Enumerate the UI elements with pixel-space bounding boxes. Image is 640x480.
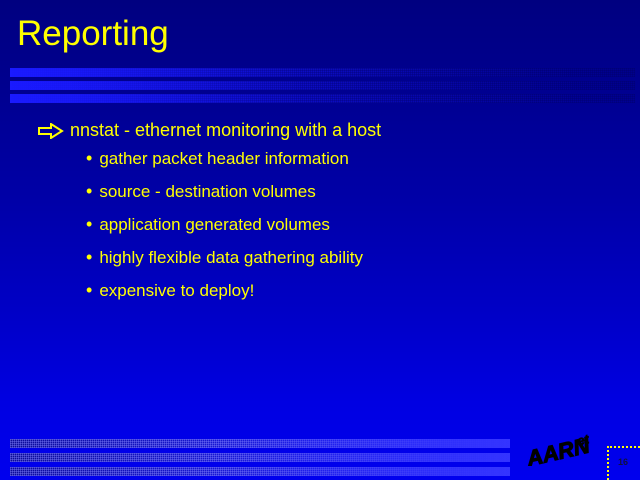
top-decorative-bars bbox=[0, 66, 640, 104]
bullet-dot-icon: • bbox=[86, 245, 92, 269]
decorative-bar bbox=[10, 94, 635, 103]
bullet-dot-icon: • bbox=[86, 179, 92, 203]
decorative-bar bbox=[10, 81, 635, 90]
sub-bullet-label: gather packet header information bbox=[99, 147, 349, 171]
bullet-dot-icon: • bbox=[86, 212, 92, 236]
decorative-bar bbox=[10, 453, 510, 462]
sub-bullet-item: • expensive to deploy! bbox=[0, 278, 640, 311]
sub-bullet-item: • application generated volumes bbox=[0, 212, 640, 245]
presentation-slide: Reporting nnstat - ethernet monitoring w… bbox=[0, 0, 640, 480]
page-title: Reporting bbox=[17, 14, 169, 54]
slide-body: nnstat - ethernet monitoring with a host… bbox=[0, 118, 640, 311]
decorative-bar bbox=[10, 439, 510, 448]
decorative-bar bbox=[10, 68, 635, 77]
sub-bullet-label: source - destination volumes bbox=[99, 180, 315, 204]
main-bullet-label: nnstat - ethernet monitoring with a host bbox=[70, 118, 381, 142]
page-number-box: 16 bbox=[607, 446, 640, 480]
sub-bullet-label: expensive to deploy! bbox=[99, 279, 254, 303]
bullet-dot-icon: • bbox=[86, 278, 92, 302]
aarnet-logo: AARN et bbox=[524, 426, 604, 466]
decorative-bar bbox=[10, 467, 510, 476]
sub-bullet-label: highly flexible data gathering ability bbox=[99, 246, 363, 270]
hollow-right-arrow-icon bbox=[38, 123, 64, 144]
sub-bullet-item: • gather packet header information bbox=[0, 146, 640, 179]
bullet-dot-icon: • bbox=[86, 146, 92, 170]
page-number: 16 bbox=[618, 457, 628, 467]
main-bullet-item: nnstat - ethernet monitoring with a host bbox=[0, 118, 640, 146]
sub-bullet-item: • highly flexible data gathering ability bbox=[0, 245, 640, 278]
sub-bullet-item: • source - destination volumes bbox=[0, 179, 640, 212]
sub-bullet-label: application generated volumes bbox=[99, 213, 330, 237]
aarnet-logo-suffix-text: et bbox=[576, 431, 591, 448]
